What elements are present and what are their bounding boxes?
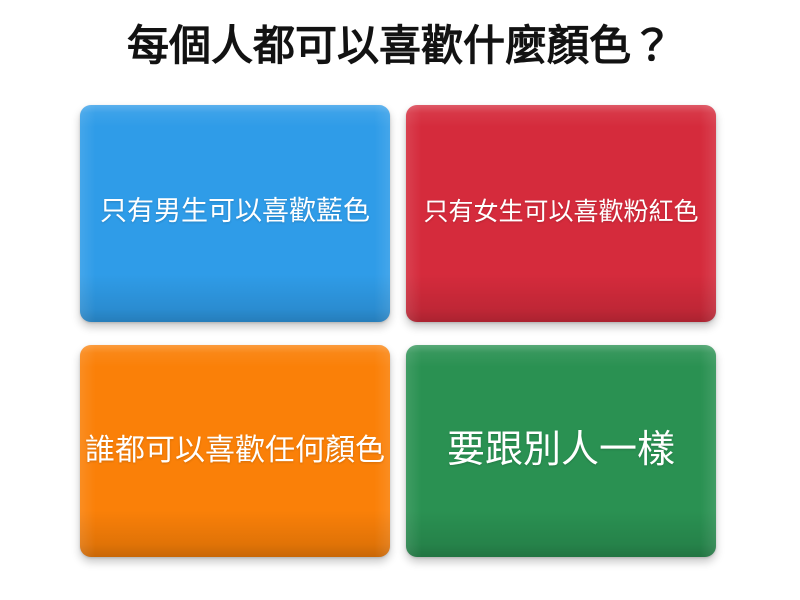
answer-grid: 只有男生可以喜歡藍色 只有女生可以喜歡粉紅色 誰都可以喜歡任何顏色 要跟別人一樣: [80, 105, 716, 557]
answer-tile-red[interactable]: 只有女生可以喜歡粉紅色: [406, 105, 716, 322]
answer-label-orange: 誰都可以喜歡任何顏色: [79, 432, 391, 470]
answer-label-blue: 只有男生可以喜歡藍色: [94, 195, 376, 229]
answer-tile-orange[interactable]: 誰都可以喜歡任何顏色: [80, 345, 390, 557]
answer-label-red: 只有女生可以喜歡粉紅色: [417, 197, 704, 228]
answer-tile-blue[interactable]: 只有男生可以喜歡藍色: [80, 105, 390, 322]
quiz-stage: 每個人都可以喜歡什麼顏色？ 只有男生可以喜歡藍色 只有女生可以喜歡粉紅色 誰都可…: [0, 0, 800, 600]
answer-label-green: 要跟別人一樣: [441, 427, 681, 475]
page-title: 每個人都可以喜歡什麼顏色？: [0, 20, 800, 72]
answer-tile-green[interactable]: 要跟別人一樣: [406, 345, 716, 557]
